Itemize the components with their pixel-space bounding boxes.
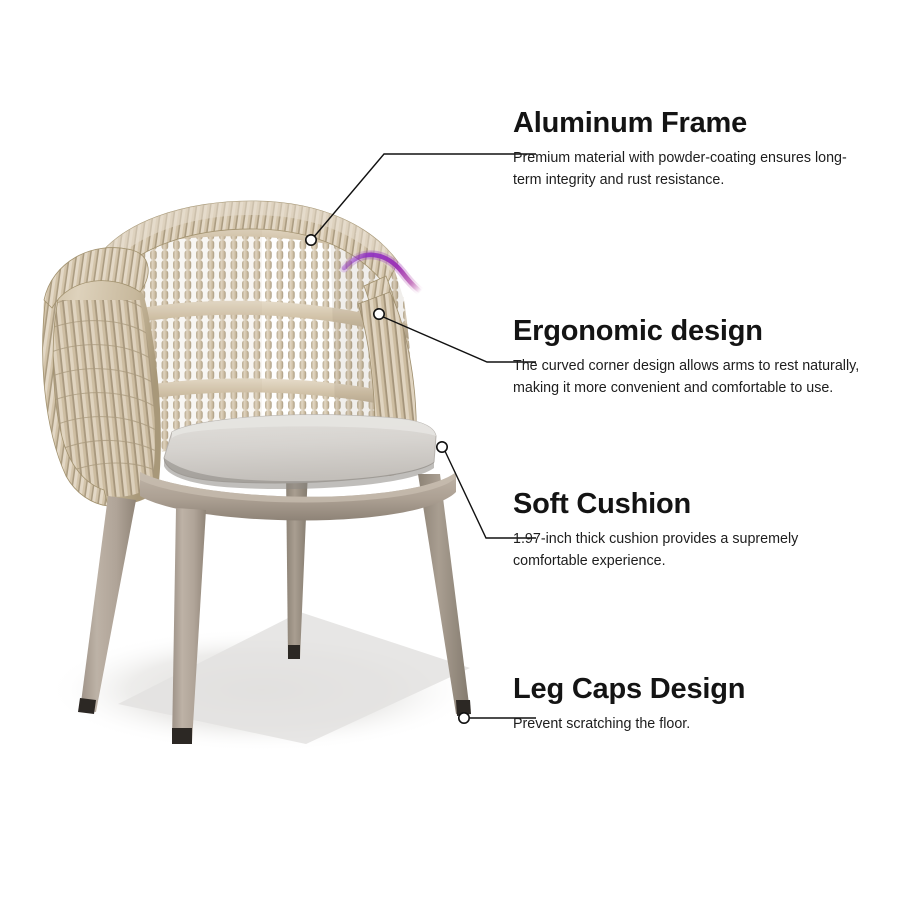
infographic-canvas: Aluminum Frame Premium material with pow… <box>0 0 900 900</box>
callout-soft-cushion: Soft Cushion 1.97-inch thick cushion pro… <box>513 489 873 573</box>
callout-leg-caps-design: Leg Caps Design Prevent scratching the f… <box>513 674 873 736</box>
callout-body-aluminum-frame: Premium material with powder-coating ens… <box>513 148 873 191</box>
product-image-chair <box>0 0 520 800</box>
callout-title-ergonomic-design: Ergonomic design <box>513 316 873 347</box>
callout-title-aluminum-frame: Aluminum Frame <box>513 108 873 139</box>
callout-body-soft-cushion: 1.97-inch thick cushion provides a supre… <box>513 529 873 572</box>
callout-title-soft-cushion: Soft Cushion <box>513 489 873 520</box>
callout-body-leg-caps-design: Prevent scratching the floor. <box>513 714 873 736</box>
callout-body-ergonomic-design: The curved corner design allows arms to … <box>513 356 873 399</box>
callout-ergonomic-design: Ergonomic design The curved corner desig… <box>513 316 873 400</box>
callout-aluminum-frame: Aluminum Frame Premium material with pow… <box>513 108 873 192</box>
callout-title-leg-caps-design: Leg Caps Design <box>513 674 873 705</box>
chair-cushion <box>164 415 436 489</box>
